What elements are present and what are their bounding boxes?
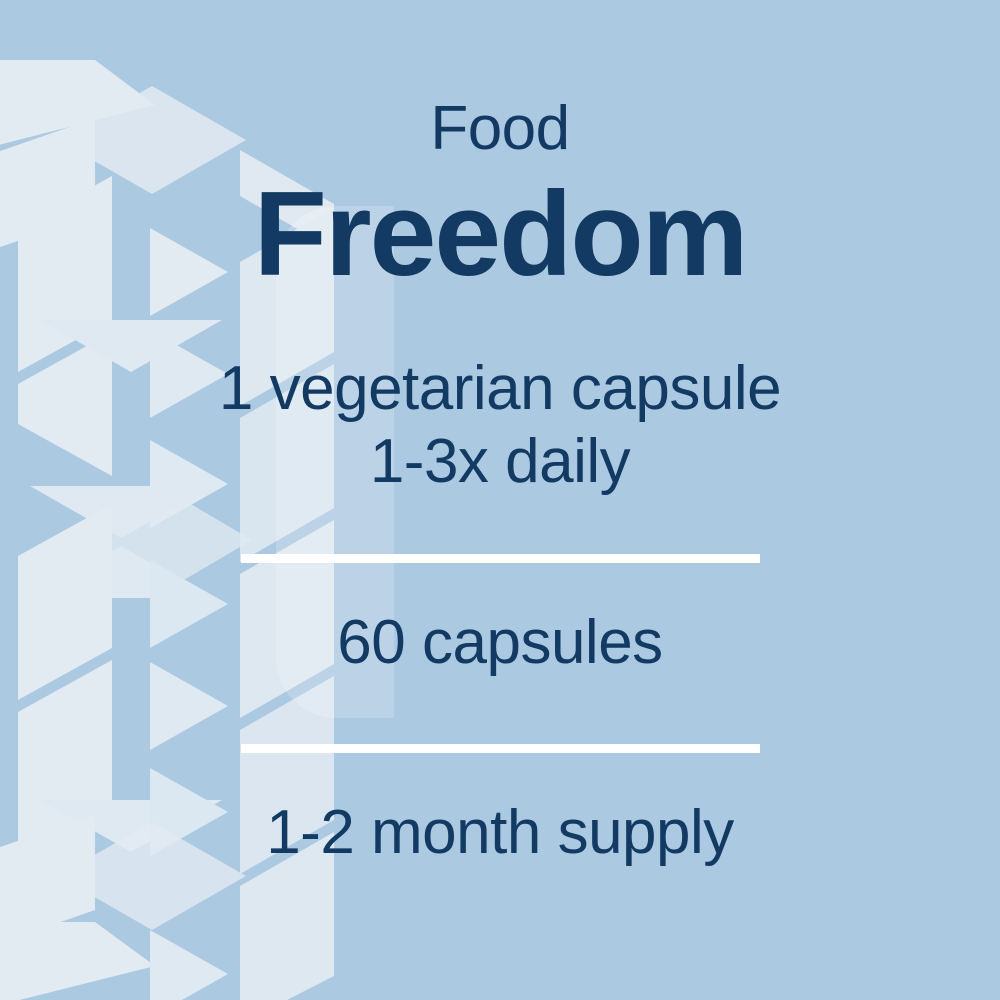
dosage-block: 1 vegetarian capsule 1-3x daily — [0, 352, 1000, 498]
dosage-line-1: 1 vegetarian capsule — [0, 352, 1000, 425]
supply-duration-label: 1-2 month supply — [0, 802, 1000, 864]
divider-bottom — [241, 744, 760, 753]
divider-top — [241, 554, 760, 563]
card-content: Food Freedom 1 vegetarian capsule 1-3x d… — [0, 0, 1000, 1000]
product-info-card: Food Freedom 1 vegetarian capsule 1-3x d… — [0, 0, 1000, 1000]
capsule-count-label: 60 capsules — [0, 612, 1000, 674]
eyebrow-label: Food — [0, 98, 1000, 160]
page-title: Freedom — [0, 174, 1000, 294]
dosage-line-2: 1-3x daily — [0, 425, 1000, 498]
